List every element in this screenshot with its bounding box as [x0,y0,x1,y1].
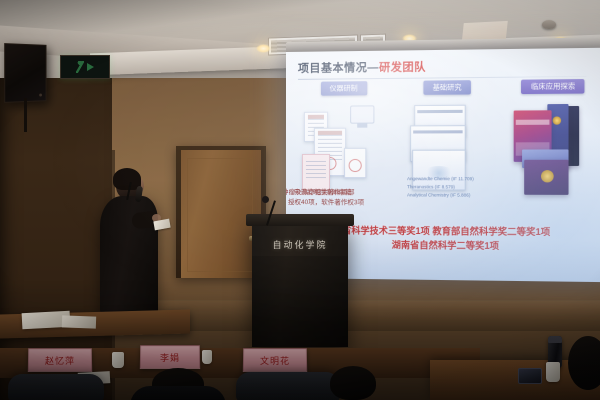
journal-title-bar [418,110,463,113]
audience-head-2 [330,366,376,400]
slide-column-1: 仪器研制 [298,81,390,233]
exit-sign [60,55,110,79]
wall-speaker [4,43,46,103]
journal-ref-1: Angewandte Chemie (IF 11.709) [407,176,474,183]
slide-title-main: 项目基本情况— [298,62,379,75]
running-person-icon [76,61,84,73]
slide-title-accent: 研发团队 [379,61,426,74]
name-placard-1: 赵忆萍 [28,348,92,372]
thermos-cap [548,336,562,343]
chair-1 [8,374,104,400]
downlight-1 [256,44,271,53]
door-panel [187,158,253,272]
column-thumbs-3 [505,100,600,208]
column-caption-3a: 肿瘤及热疗相关著作13部 [286,186,354,196]
column-caption-1b: 授权40项，软件著作权3项 [288,196,364,206]
papers-stack-left-2 [62,315,96,328]
column-badge-3: 临床应用探索 [521,79,584,94]
audience-head-3 [568,336,600,390]
presenter [92,168,172,318]
book-emblem-2 [541,170,554,182]
smoke-detector-icon [542,20,556,29]
speaker-led-icon [39,94,42,97]
speaker-bracket [24,98,27,132]
column-badge-1: 仪器研制 [321,81,367,96]
presenter-notes [153,219,170,231]
slide-column-3: 临床应用探索 [505,79,600,235]
paper-cup-2 [202,350,212,364]
lecture-hall-photo: 项目基本情况—研发团队 仪器研制 [0,0,600,400]
book-title-strip [516,120,549,125]
doc-lines [306,161,326,181]
journal-ref-3: Analytical Chemistry (IF 5.886) [407,192,470,199]
slide-column-2: 基础研究 SCI论文130余篇 [400,80,494,234]
paper-cup-1 [112,352,124,368]
podium: 自动化学院 [252,222,348,347]
podium-shading [252,256,348,347]
podium-top-surface [246,214,354,226]
slide-title: 项目基本情况—研发团队 [298,56,599,76]
slide-columns: 仪器研制 [298,79,600,235]
podium-mic-icon [262,196,269,203]
chair-2 [236,372,340,400]
podium-logo-text: 自动化学院 [260,238,340,251]
book-cover-c [524,160,568,195]
monitor-thumb [350,105,374,123]
name-placard-3: 文明花 [243,348,307,372]
paper-cup-3 [546,362,560,382]
journal-ref-2: Theranostics (IF 8.579) [407,184,455,191]
audience-shoulders-1 [130,386,226,400]
certificate-thumb-c [302,154,330,190]
arrow-right-icon [87,63,94,71]
journal-title-bar [414,130,463,133]
book-emblem [552,116,560,124]
red-seal-icon [349,159,362,172]
certificate-thumb-d [344,148,366,178]
phone-device [518,368,542,384]
column-badge-2: 基础研究 [423,80,470,95]
name-placard-2: 李娟 [140,345,200,369]
